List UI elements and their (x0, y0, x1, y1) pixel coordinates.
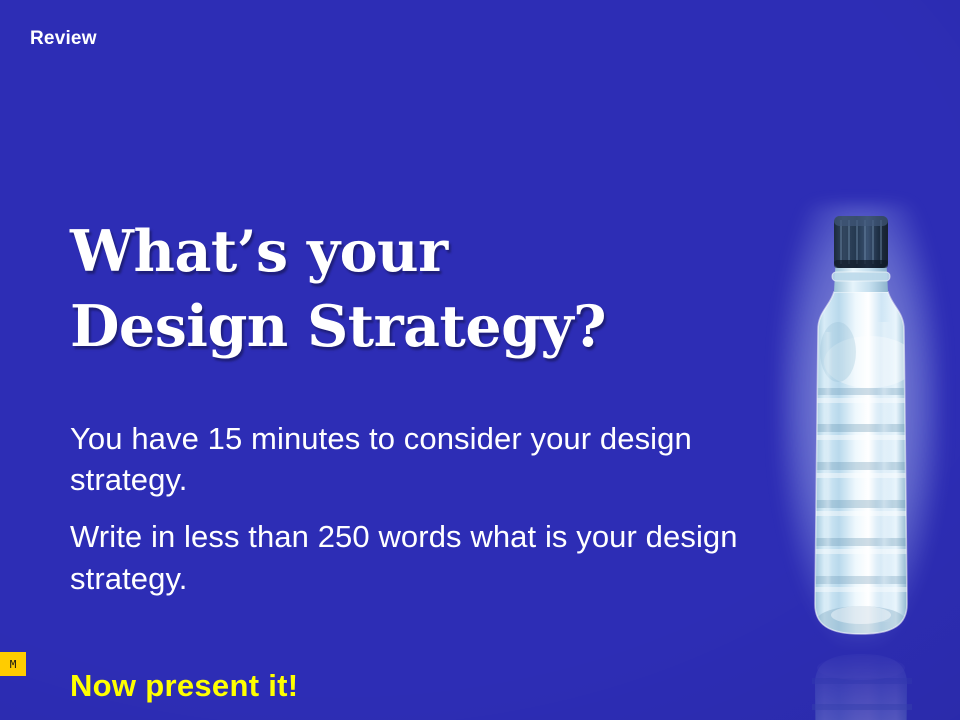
page-title: What’s your Design Strategy? (70, 214, 710, 364)
bottle-graphic (790, 212, 932, 644)
bottle-body (790, 212, 932, 644)
title-line-2: Design Strategy? (70, 289, 710, 364)
body-paragraph-2: Write in less than 250 words what is you… (70, 516, 770, 598)
slide-canvas: Review What’s your Design Strategy? You … (0, 0, 960, 720)
body-paragraph-1: You have 15 minutes to consider your des… (70, 418, 770, 500)
bottle-reflection-graphic (790, 644, 932, 720)
body-copy: You have 15 minutes to consider your des… (70, 418, 770, 615)
slide-section-label: Review (30, 28, 97, 50)
water-bottle-image (770, 196, 952, 720)
call-to-action-text: Now present it! (70, 668, 298, 704)
corner-badge: M (0, 652, 26, 676)
title-line-1: What’s your (70, 214, 710, 289)
bottle-reflection (790, 644, 932, 720)
